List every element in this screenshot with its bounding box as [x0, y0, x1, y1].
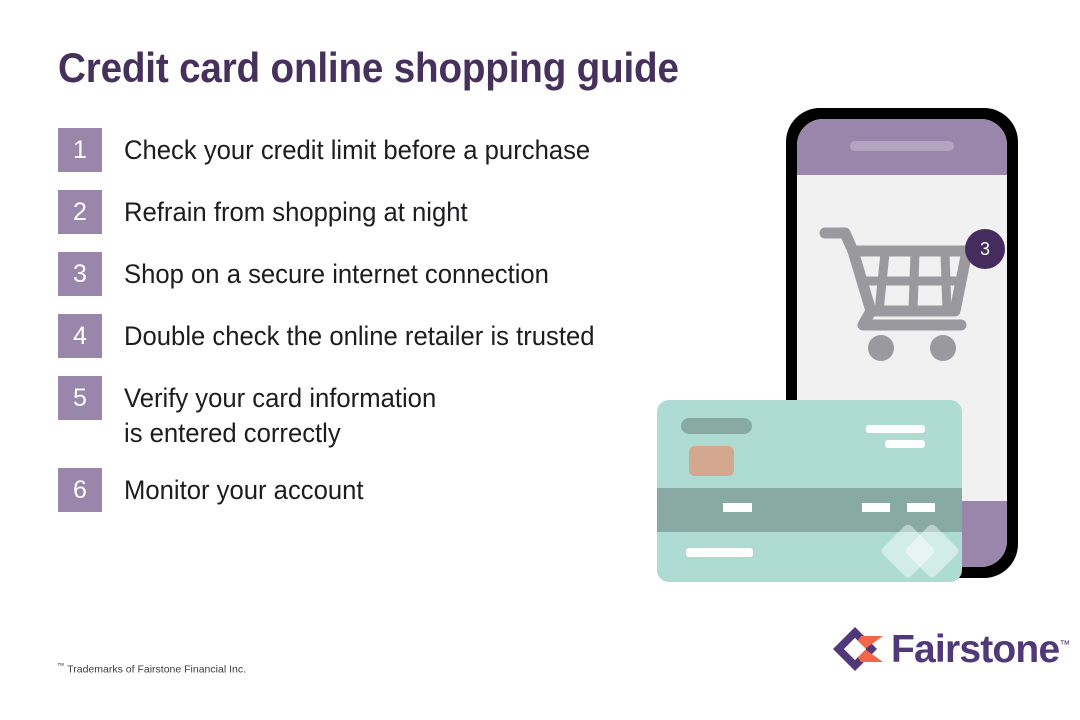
cart-count-badge: 3	[965, 229, 1005, 269]
card-name-bar	[681, 418, 752, 434]
step-text: Check your credit limit before a purchas…	[124, 128, 590, 168]
step-number-badge: 2	[58, 190, 102, 234]
card-detail-line	[862, 503, 890, 512]
fairstone-logo-icon	[833, 625, 885, 673]
brand-wordmark: Fairstone™	[891, 630, 1070, 669]
trademark-symbol: ™	[57, 661, 65, 670]
steps-list: 1 Check your credit limit before a purch…	[58, 128, 758, 530]
card-detail-line	[885, 440, 925, 448]
step-number-badge: 4	[58, 314, 102, 358]
trademark-footnote: ™ Trademarks of Fairstone Financial Inc.	[57, 661, 246, 676]
credit-card-illustration	[657, 400, 962, 582]
card-detail-line	[686, 548, 753, 557]
card-detail-line	[723, 503, 752, 512]
list-item: 3 Shop on a secure internet connection	[58, 252, 758, 296]
brand-name-text: Fairstone	[891, 628, 1059, 671]
step-text: Double check the online retailer is trus…	[124, 314, 595, 354]
list-item: 1 Check your credit limit before a purch…	[58, 128, 758, 172]
step-number-badge: 6	[58, 468, 102, 512]
brand-trademark-symbol: ™	[1059, 639, 1069, 651]
step-text: Monitor your account	[124, 468, 364, 508]
step-text: Shop on a secure internet connection	[124, 252, 549, 292]
list-item: 4 Double check the online retailer is tr…	[58, 314, 758, 358]
brand-logo: Fairstone™	[833, 625, 1070, 673]
trademark-notice-text: Trademarks of Fairstone Financial Inc.	[65, 664, 247, 676]
infographic-canvas: Credit card online shopping guide 1 Chec…	[0, 0, 1080, 720]
card-detail-line	[907, 503, 935, 512]
step-number-badge: 5	[58, 376, 102, 420]
list-item: 2 Refrain from shopping at night	[58, 190, 758, 234]
step-number-badge: 1	[58, 128, 102, 172]
card-detail-line	[866, 425, 925, 433]
step-text: Refrain from shopping at night	[124, 190, 468, 230]
shopping-cart-icon: 3	[819, 215, 991, 363]
step-text: Verify your card information is entered …	[124, 376, 436, 450]
page-title: Credit card online shopping guide	[58, 44, 679, 92]
card-chip-icon	[689, 446, 734, 476]
list-item: 5 Verify your card information is entere…	[58, 376, 758, 450]
step-number-badge: 3	[58, 252, 102, 296]
list-item: 6 Monitor your account	[58, 468, 758, 512]
phone-header-bar	[797, 119, 1007, 175]
phone-speaker-icon	[850, 141, 954, 151]
